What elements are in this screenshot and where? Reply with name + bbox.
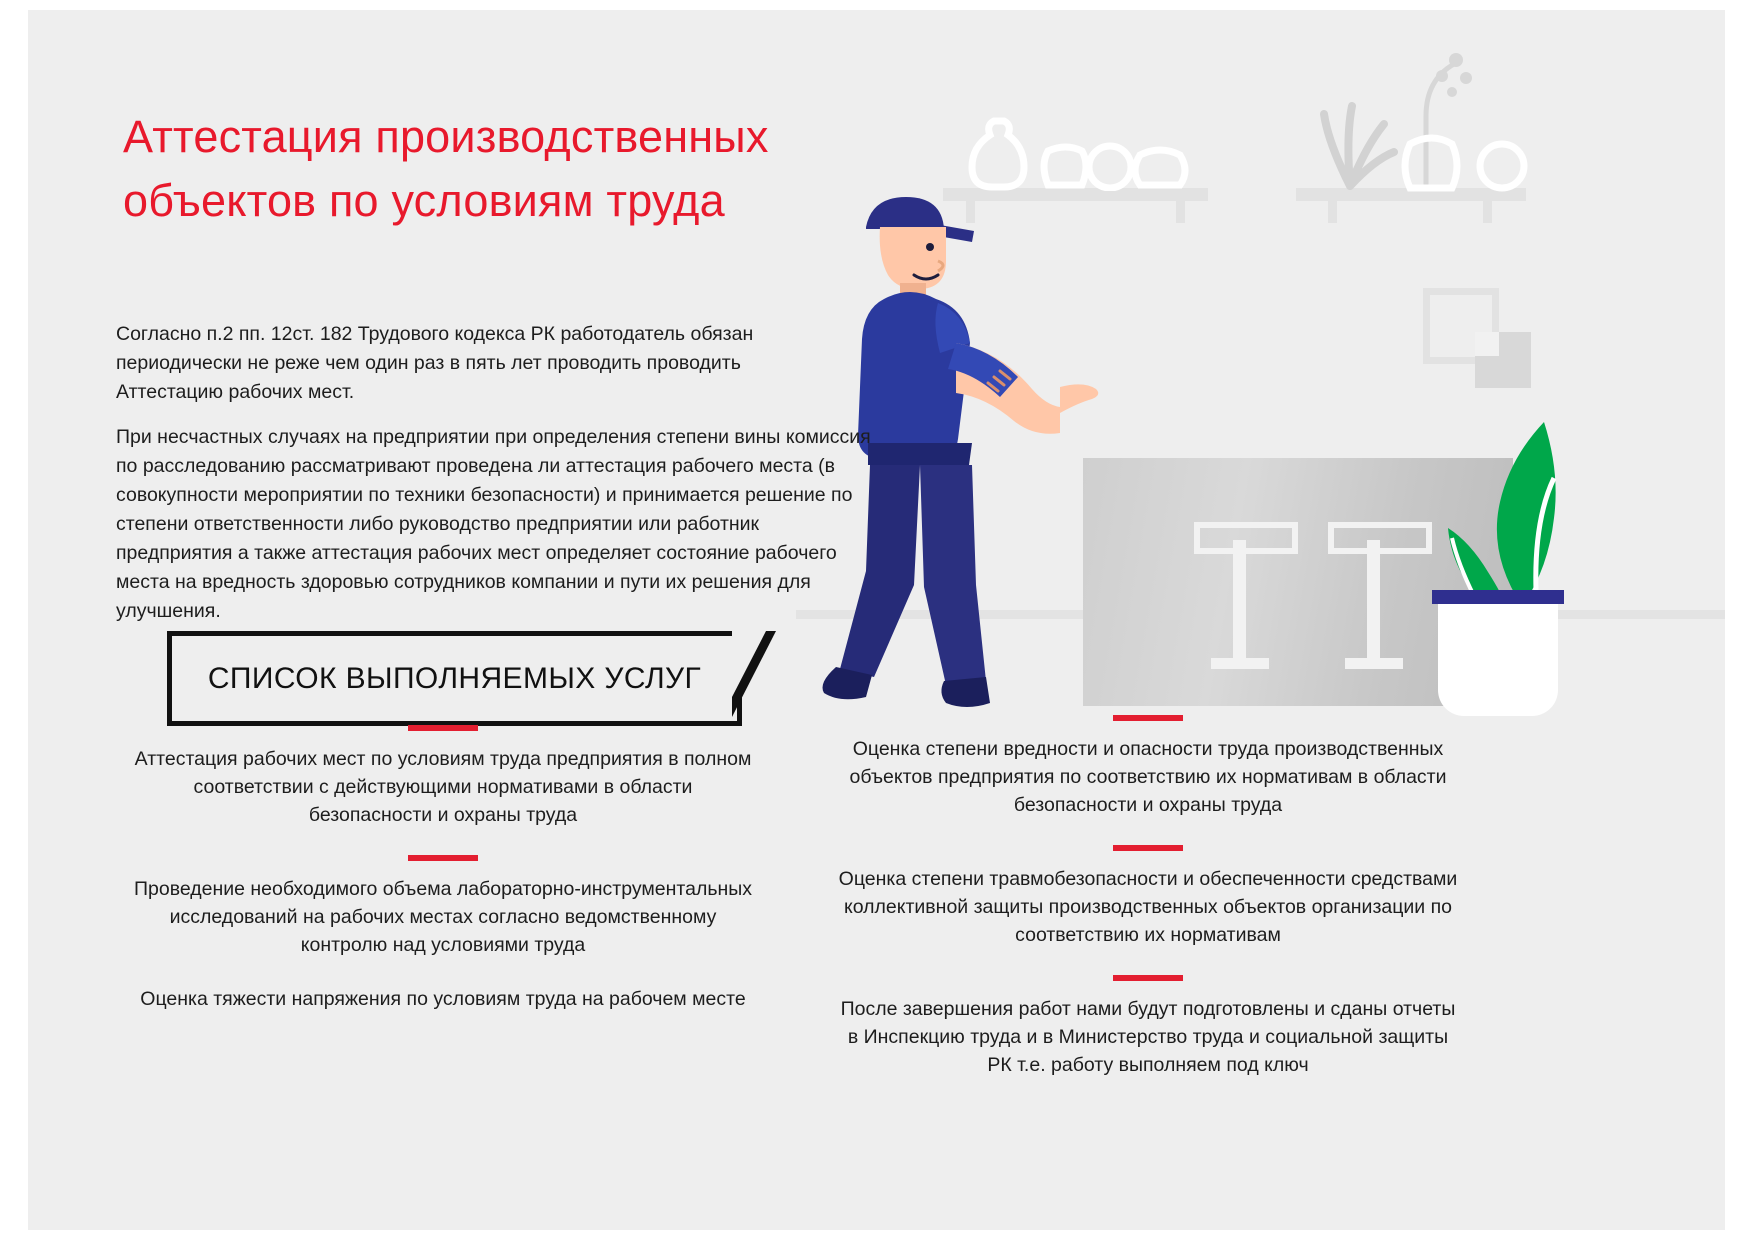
wall-square-outline [1423,288,1499,364]
plant-pot-rim [1432,590,1564,604]
intro-paragraph-1: Согласно п.2 пп. 12ст. 182 Трудового код… [116,320,816,407]
wall-square-small [1475,332,1499,356]
service-item: Оценка степени травмобезопасности и обес… [838,845,1458,949]
divider-rule [1113,845,1183,851]
stool-left-seat [1194,522,1298,554]
stool-right-base [1345,658,1403,669]
potted-plant-leaves-icon [1426,410,1586,610]
stool-left-post [1233,540,1246,660]
service-item: Оценка степени вредности и опасности тру… [838,715,1458,819]
service-item: Проведение необходимого объема лаборатор… [133,855,753,959]
bar-counter-panel [1083,458,1513,706]
service-item-text: Проведение необходимого объема лаборатор… [133,875,753,959]
divider-rule [408,725,478,731]
divider-rule [408,855,478,861]
stool-right-post [1367,540,1380,660]
stool-left-base [1211,658,1269,669]
service-item: Аттестация рабочих мест по условиям труд… [133,725,753,829]
service-item: После завершения работ нами будут подгот… [838,975,1458,1079]
service-item-text: Аттестация рабочих мест по условиям труд… [133,745,753,829]
divider-rule [1113,975,1183,981]
service-item-text: Оценка тяжести напряжения по условиям тр… [133,985,753,1013]
shelf-with-plants-icon [1306,48,1536,193]
shelf-left-bracket-2 [1176,201,1185,223]
service-item: Оценка тяжести напряжения по условиям тр… [133,985,753,1013]
service-item-text: После завершения работ нами будут подгот… [838,995,1458,1079]
plant-pot [1438,598,1558,716]
page-title: Аттестация производственных объектов по … [123,105,943,233]
services-banner-label: СПИСОК ВЫПОЛНЯЕМЫХ УСЛУГ [208,662,701,696]
wall-square-solid [1475,332,1531,388]
intro-paragraph-2: При несчастных случаях на предприятии пр… [116,423,876,626]
shelf-right [1296,188,1526,201]
services-banner: СПИСОК ВЫПОЛНЯЕМЫХ УСЛУГ [167,631,742,726]
services-column-left: Аттестация рабочих мест по условиям труд… [133,725,753,1039]
service-item-text: Оценка степени вредности и опасности тру… [838,735,1458,819]
services-banner-tail-inner [732,631,766,697]
shelf-right-bracket-1 [1328,201,1337,223]
divider-rule [1113,715,1183,721]
shelf-right-bracket-2 [1483,201,1492,223]
stool-right-seat [1328,522,1432,554]
services-column-right: Оценка степени вредности и опасности тру… [838,715,1458,1105]
infographic-poster: Аттестация производственных объектов по … [28,10,1725,1230]
service-item-text: Оценка степени травмобезопасности и обес… [838,865,1458,949]
